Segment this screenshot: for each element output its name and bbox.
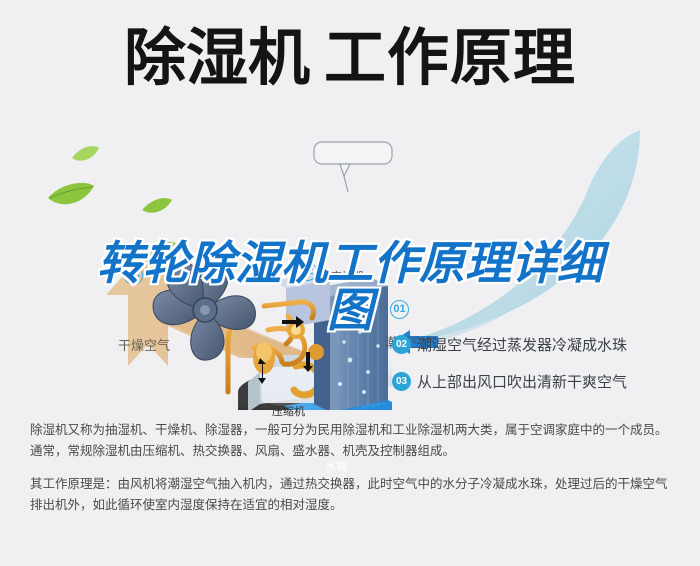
paragraph-2-line-2: 排出机外，如此循环使室内湿度保持在适宜的相对湿度。 <box>30 495 675 516</box>
paragraph-1-line-2: 通常，常规除湿机由压缩机、热交换器、风扇、盛水器、机壳及控制器组成。 <box>30 441 675 462</box>
diagram-badge-03: 03 <box>124 266 143 285</box>
paragraph-gap <box>30 462 675 474</box>
compressor-label: 压缩机 <box>272 403 305 419</box>
legend-text-02: 潮湿空气经过蒸发器冷凝成水珠 <box>417 334 627 355</box>
page-root: 除湿机工作原理 <box>0 0 700 566</box>
paragraph-2-line-1: 其工作原理是：由风机将潮湿空气抽入机内，通过热交换器，此时空气中的水分子冷凝成水… <box>30 474 675 495</box>
page-title-part-b: 工作原理 <box>324 24 576 93</box>
legend-item-02: 02 潮湿空气经过蒸发器冷凝成水珠 <box>392 334 692 354</box>
legend-list: 01 潮湿空气由下部进风口吸入机内 02 潮湿空气经过蒸发器冷凝成水珠 03 从… <box>392 297 692 408</box>
paragraph-1-line-1: 除湿机又称为抽湿机、干燥机、除湿器，一般可分为民用除湿机和工业除湿机两大类，属于… <box>30 420 675 441</box>
body-copy: 除湿机又称为抽湿机、干燥机、除湿器，一般可分为民用除湿机和工业除湿机两大类，属于… <box>30 420 675 516</box>
legend-badge-03: 03 <box>392 372 411 391</box>
page-title-part-a: 除湿机 <box>124 24 310 93</box>
page-title: 除湿机工作原理 <box>0 28 700 90</box>
heat-exchanger-callout-shape <box>314 142 392 192</box>
legend-text-03: 从上部出风口吹出清新干爽空气 <box>417 371 627 392</box>
dry-air-label: 干燥空气 <box>118 335 170 354</box>
page-title-text: 除湿机工作原理 <box>124 28 576 90</box>
leaf-decoration-shapes <box>48 146 178 257</box>
legend-badge-02: 02 <box>392 335 411 354</box>
diagram-badge-02: 02 <box>298 262 317 281</box>
legend-item-03: 03 从上部出风口吹出清新干爽空气 <box>392 371 692 391</box>
heat-exchanger-label: 热交换器 <box>320 268 364 284</box>
